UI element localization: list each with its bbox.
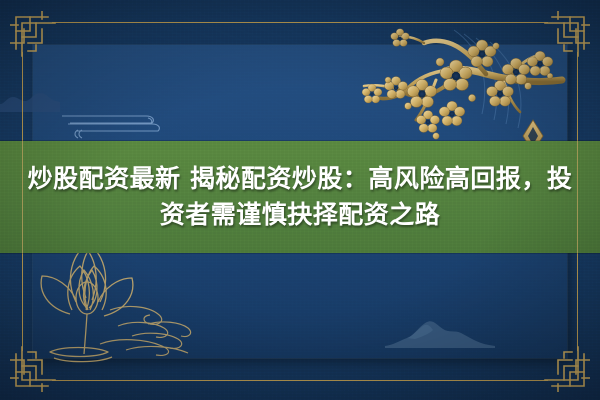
- banner-container: 炒股配资最新 揭秘配资炒股：高风险高回报，投资者需谨慎抉择配资之路: [0, 0, 600, 400]
- title-band: 炒股配资最新 揭秘配资炒股：高风险高回报，投资者需谨慎抉择配资之路: [0, 141, 600, 253]
- page-title: 炒股配资最新 揭秘配资炒股：高风险高回报，投资者需谨慎抉择配资之路: [22, 161, 578, 233]
